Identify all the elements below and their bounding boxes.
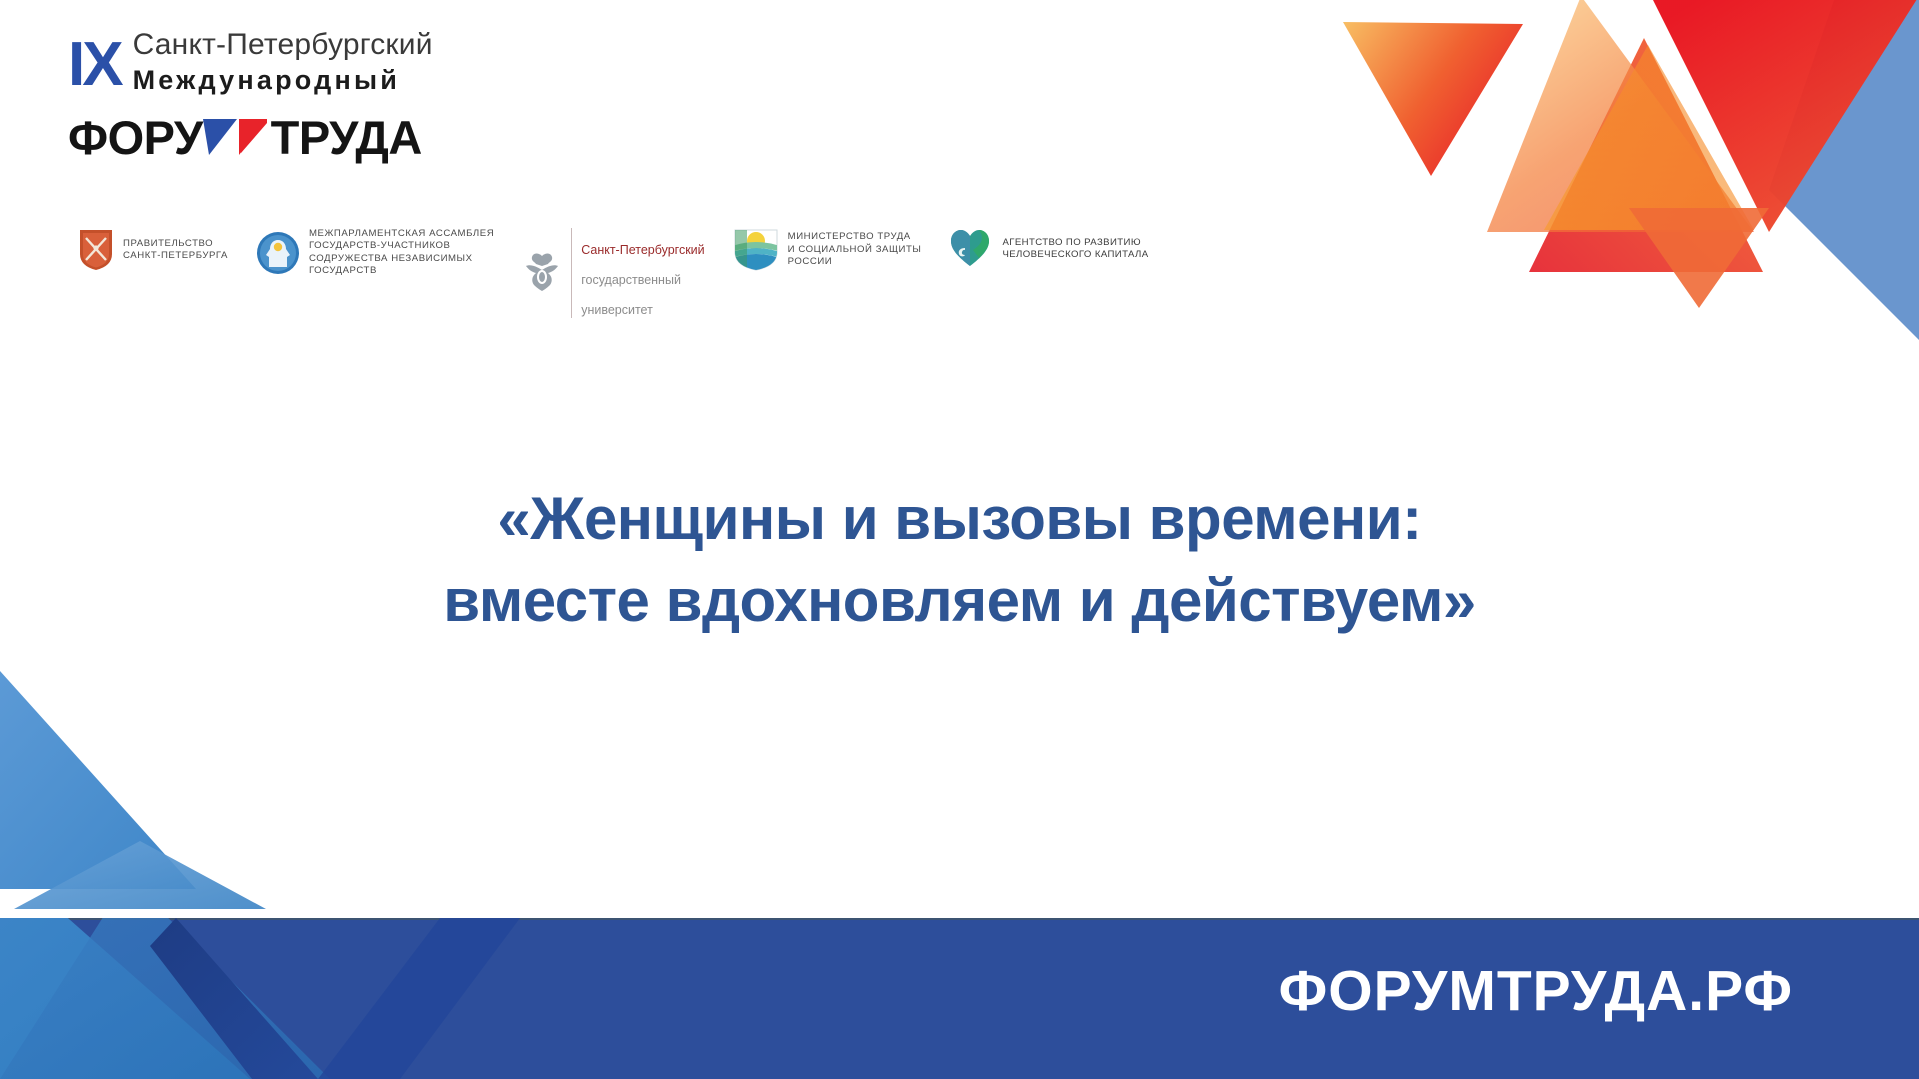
orange-red-downward-triangle-icon: [1343, 22, 1523, 176]
partner-label-government-of-saint-petersburg: ПРАВИТЕЛЬСТВО САНКТ-ПЕТЕРБУРГА: [123, 238, 228, 263]
forum-logo: IX Санкт-Петербургский Международный ФОР…: [68, 28, 488, 160]
partner-label-interparliamentary-assembly-cis: МЕЖПАРЛАМЕНТСКАЯ АССАМБЛЕЯ ГОСУДАРСТВ-УЧ…: [309, 228, 494, 278]
partner-human-capital-development-agency: АГЕНТСТВО ПО РАЗВИТИЮ ЧЕЛОВЕЧЕСКОГО КАПИ…: [949, 228, 1148, 270]
logo-roman-numeral: IX: [68, 34, 121, 96]
cis-assembly-icon: [256, 231, 300, 275]
partner-interparliamentary-assembly-cis: МЕЖПАРЛАМЕНТСКАЯ АССАМБЛЕЯ ГОСУДАРСТВ-УЧ…: [256, 228, 494, 278]
logo-line-international: Международный: [133, 64, 433, 96]
orange-downward-tail-icon: [1629, 208, 1769, 308]
slide-title: «Женщины и вызовы времени: вместе вдохно…: [0, 478, 1919, 642]
partner-government-of-saint-petersburg: ПРАВИТЕЛЬСТВО САНКТ-ПЕТЕРБУРГА: [78, 228, 228, 272]
orange-upward-triangle-icon: [1487, 0, 1754, 232]
logo-word-forum: ФОРУ: [68, 114, 203, 161]
slide-title-line-1: «Женщины и вызовы времени:: [0, 478, 1919, 560]
footer-url: ФОРУМТРУДА.РФ: [1279, 961, 1793, 1021]
partner-logos-row: ПРАВИТЕЛЬСТВО САНКТ-ПЕТЕРБУРГА МЕЖПАРЛАМ…: [78, 228, 1149, 318]
footer-band: ФОРУМТРУДА.РФ: [0, 918, 1919, 1079]
spbu-line-1: Санкт-Петербургский: [581, 243, 704, 257]
sun-waves-shield-icon: [733, 228, 779, 272]
logo-line-saint-petersburg: Санкт-Петербургский: [133, 28, 433, 62]
logo-word-truda: ТРУДА: [271, 114, 422, 161]
partner-label-ministry-of-labour: МИНИСТЕРСТВО ТРУДА И СОЦИАЛЬНОЙ ЗАЩИТЫ Р…: [788, 231, 922, 268]
blue-triangle-icon: [1769, 0, 1919, 340]
russian-flag-wedge-icon: [203, 117, 269, 157]
footer-decorative-triangles: [0, 918, 560, 1079]
spb-coat-of-arms-icon: [78, 228, 114, 272]
partner-spbu: Санкт-Петербургский государственный унив…: [522, 228, 704, 318]
slide-title-line-2: вместе вдохновляем и действуем»: [0, 560, 1919, 642]
partner-label-spbu: Санкт-Петербургский государственный унив…: [571, 228, 704, 318]
red-upward-triangle-icon: [1529, 38, 1763, 272]
bright-orange-triangle-icon: [1544, 45, 1754, 230]
spbu-line-3: университет: [581, 303, 653, 317]
spbu-line-2: государственный: [581, 273, 681, 287]
double-headed-eagle-icon: [522, 250, 562, 296]
red-triangle-icon: [1651, 0, 1919, 232]
blue-mountain-small-icon: [14, 841, 266, 909]
partner-ministry-of-labour: МИНИСТЕРСТВО ТРУДА И СОЦИАЛЬНОЙ ЗАЩИТЫ Р…: [733, 228, 922, 272]
blue-mountain-large-icon: [0, 671, 196, 889]
partner-label-human-capital-development-agency: АГЕНТСТВО ПО РАЗВИТИЮ ЧЕЛОВЕЧЕСКОГО КАПИ…: [1002, 237, 1148, 262]
presentation-slide: IX Санкт-Петербургский Международный ФОР…: [0, 0, 1919, 1079]
decorative-triangles-top-right: [1299, 0, 1919, 340]
heart-icon: [949, 228, 993, 270]
